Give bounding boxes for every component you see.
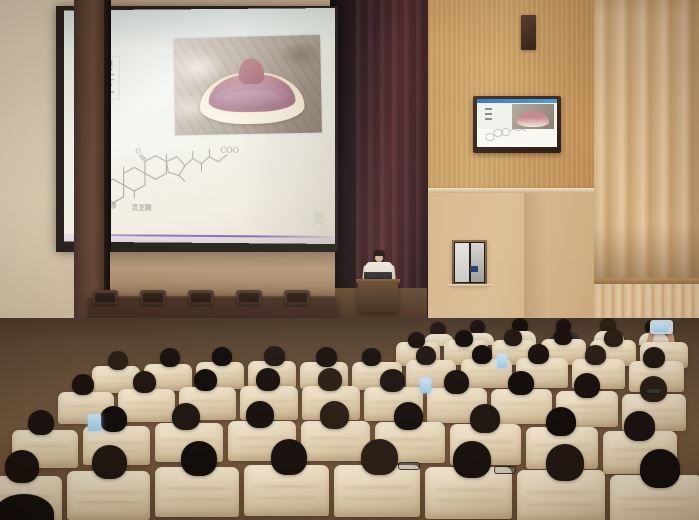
audience-head [133,371,156,393]
slide-mushroom-photo [173,35,322,136]
monitor-chem-structure [483,127,529,141]
audience-head [455,330,473,347]
svg-text:O: O [110,203,116,210]
audience-head [508,371,534,395]
audience-head [246,401,274,428]
reishi-mushroom [199,57,305,125]
audience-head [194,369,217,391]
window-sill [448,284,492,287]
auditorium-photo: 灵芝 [0,0,699,520]
monitor-window-titlebar [477,99,557,103]
audience-head [271,439,307,475]
audience-head [264,346,285,366]
audience-area [0,318,699,520]
audience-phone [420,378,431,393]
audience-head [640,449,680,488]
audience-head [5,450,39,483]
projection-booth-window [452,240,487,285]
chemical-name-label: 灵芝酸 [131,203,151,213]
booth-device-icon [470,266,478,272]
mushroom-stem [238,58,264,84]
audience-head [604,329,623,347]
audience-head [643,347,665,368]
monitor-slide-title [485,108,492,120]
window-pane [455,243,469,282]
audience-head [318,368,342,391]
svg-text:COOH: COOH [220,146,239,155]
audience-head [92,445,127,479]
audience-head [212,347,232,366]
stage-seat [188,290,214,305]
audience-head [444,370,469,394]
window-pane [471,243,485,282]
audience-head [361,439,398,475]
stage-seat [140,290,166,305]
eyeglasses [398,462,420,470]
audience-head [585,345,606,365]
stage-seat [236,290,262,305]
audience-head [546,407,576,436]
audience-head [472,345,492,364]
audience-head [256,368,280,391]
audience-head [574,373,600,398]
audience-head [394,402,423,430]
audience-head [416,346,436,365]
stage-seat [92,290,118,305]
audience-head [362,348,381,366]
audience-phone [497,354,507,368]
camera-screen [653,322,668,332]
window-inner [454,242,485,283]
audience-head [624,411,655,441]
side-curtain [594,0,699,285]
audience-head [172,403,200,430]
audience-head [554,328,572,345]
audience-head [160,348,180,367]
wall-mounted-monitor [477,99,557,147]
audience-head [320,401,349,429]
stage-seat [284,290,310,305]
podium [358,281,398,313]
audience-head [528,344,549,364]
eyeglasses [646,388,662,394]
audience-head [470,320,485,334]
audience-head [546,444,584,481]
audience-phone [88,414,101,431]
audience-head [28,410,54,435]
audience-head [316,347,337,367]
audience-head [453,441,491,478]
audience-head [504,329,522,346]
audience-head [181,441,217,476]
monitor-mushroom [517,111,549,127]
ceiling-speaker-icon [521,15,536,50]
audience-head [100,406,127,432]
chemical-structure-diagram: COOH O O O [93,138,239,210]
stage-floor-shadow [110,252,335,268]
audience-head [470,404,500,433]
presenter-hair [373,250,385,256]
svg-text:O: O [135,148,141,156]
slide-logo: 灵 [312,209,325,228]
audience-head [380,369,405,392]
audience-head [72,374,94,395]
eyeglasses [494,466,516,474]
audience-head [108,351,128,370]
